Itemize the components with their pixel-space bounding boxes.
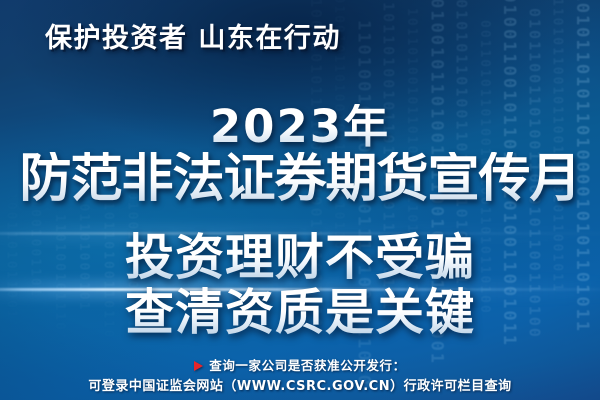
title-block: 2023年 防范非法证券期货宣传月 <box>0 104 600 206</box>
campaign-headline: 保护投资者 山东在行动 <box>45 16 341 55</box>
footer-line-2: 可登录中国证监会网站（WWW.CSRC.GOV.CN）行政许可栏目查询 <box>0 378 600 396</box>
slogan-line-2: 查清资质是关键 <box>0 286 600 341</box>
red-triangle-icon <box>194 361 203 371</box>
title-main: 防范非法证券期货宣传月 <box>0 152 600 206</box>
poster-content: 保护投资者 山东在行动 2023年 防范非法证券期货宣传月 投资理财不受骗 查清… <box>0 0 600 400</box>
promotional-poster: 1001101011010010110011010110100110100101… <box>0 0 600 400</box>
footer-line-1-text: 查询一家公司是否获准公开发行： <box>209 358 406 373</box>
title-year: 2023年 <box>0 104 600 150</box>
slogan-line-1: 投资理财不受骗 <box>0 231 600 286</box>
poster-footer: 查询一家公司是否获准公开发行： 可登录中国证监会网站（WWW.CSRC.GOV.… <box>0 357 600 396</box>
slogan-block: 投资理财不受骗 查清资质是关键 <box>0 231 600 341</box>
footer-line-1: 查询一家公司是否获准公开发行： <box>0 357 600 375</box>
